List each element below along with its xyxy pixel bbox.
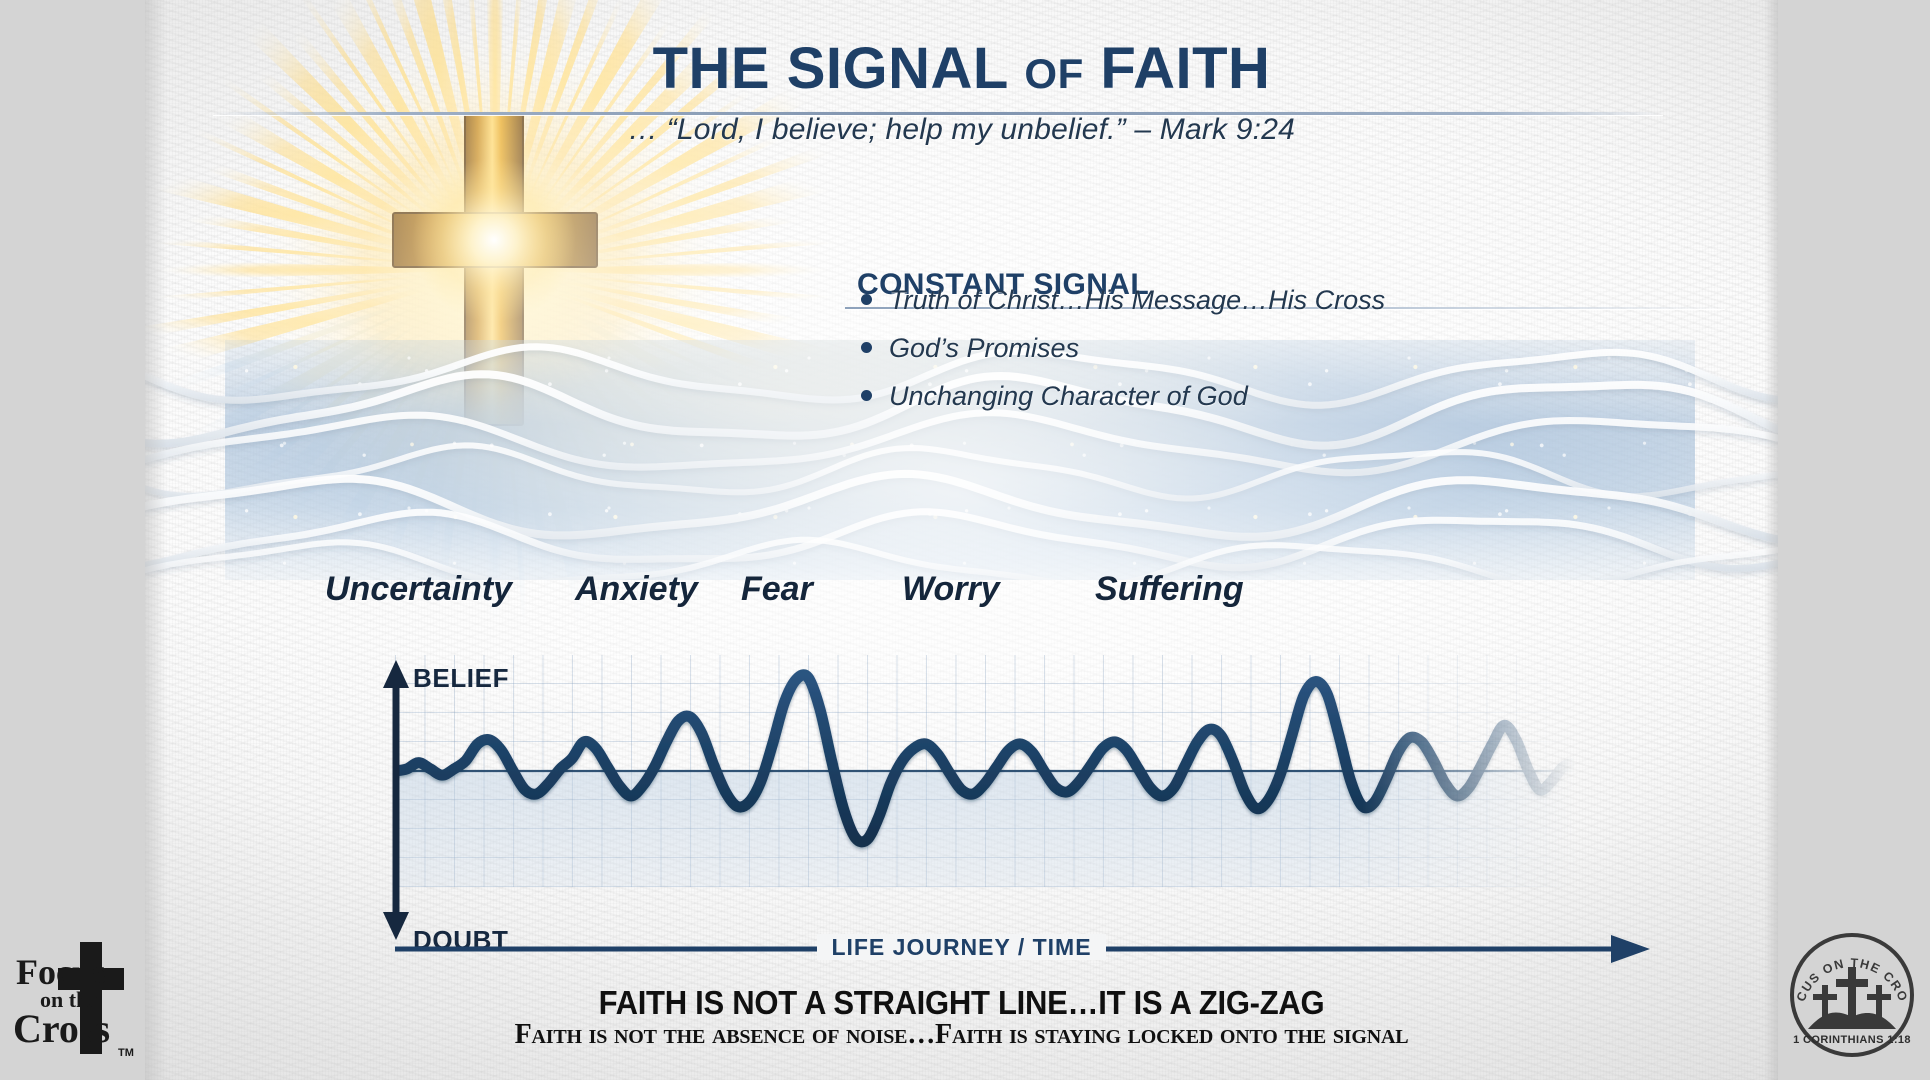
logo-line3: Cross bbox=[13, 1006, 110, 1051]
seal-verse-ref: 1 CORINTHIANS 1:18 bbox=[1793, 1034, 1911, 1046]
noise-word-worry: Worry bbox=[902, 570, 1000, 609]
list-item: Truth of Christ…His Message…His Cross bbox=[861, 285, 1385, 316]
footer-line-1: FAITH IS NOT A STRAIGHT LINE…IT IS A ZIG… bbox=[194, 984, 1729, 1022]
x-axis-label-text: LIFE JOURNEY / TIME bbox=[817, 934, 1105, 960]
left-edge-shade bbox=[145, 0, 167, 1080]
noise-word-uncertainty: Uncertainty bbox=[325, 570, 512, 609]
noise-word-fear: Fear bbox=[741, 570, 813, 609]
title-faith: FAITH bbox=[1100, 36, 1270, 101]
bullet-dot-icon bbox=[861, 294, 872, 305]
bullet-text: Truth of Christ…His Message…His Cross bbox=[889, 285, 1385, 315]
title-of: OF bbox=[1024, 50, 1083, 97]
noise-word-suffering: Suffering bbox=[1095, 570, 1244, 609]
x-axis-label: LIFE JOURNEY / TIME bbox=[145, 934, 1778, 961]
list-item: Unchanging Character of God bbox=[861, 381, 1248, 412]
bullet-dot-icon bbox=[861, 390, 872, 401]
noise-word-anxiety: Anxiety bbox=[575, 570, 698, 609]
logo-tm: TM bbox=[118, 1047, 134, 1059]
belief-doubt-waveform-chart bbox=[395, 655, 1575, 925]
y-axis-top-label: BELIEF bbox=[413, 663, 509, 694]
bullet-text: Unchanging Character of God bbox=[889, 381, 1248, 411]
footer-line-2: Faith is not the absence of noise…Faith … bbox=[145, 1019, 1778, 1051]
focus-on-the-cross-logo: Focus on the Cross TM bbox=[10, 930, 145, 1070]
right-edge-shade bbox=[1764, 0, 1778, 1080]
chart-signal-line bbox=[395, 655, 1575, 887]
scripture-verse: … “Lord, I believe; help my unbelief.” –… bbox=[145, 113, 1778, 147]
logo-line1: Focus bbox=[16, 952, 106, 992]
presentation-slide: LIFE’S NOISE THE SIGNAL OF FAITH … “Lord… bbox=[145, 0, 1778, 1080]
lifes-noise-band: LIFE’S NOISE bbox=[145, 340, 1778, 580]
y-axis-arrow bbox=[383, 660, 409, 940]
bullet-dot-icon bbox=[861, 342, 872, 353]
bullet-text: God’s Promises bbox=[889, 333, 1079, 363]
slide-stage: LIFE’S NOISE THE SIGNAL OF FAITH … “Lord… bbox=[0, 0, 1930, 1080]
list-item: God’s Promises bbox=[861, 333, 1079, 364]
noise-wave-lines bbox=[145, 340, 1778, 580]
page-title: THE SIGNAL OF FAITH bbox=[145, 35, 1778, 102]
focus-on-the-cross-seal: FOCUS ON THE CROSS 1 CORINTHIANS 1:18 bbox=[1782, 925, 1922, 1065]
title-main: THE SIGNAL bbox=[653, 36, 1008, 101]
